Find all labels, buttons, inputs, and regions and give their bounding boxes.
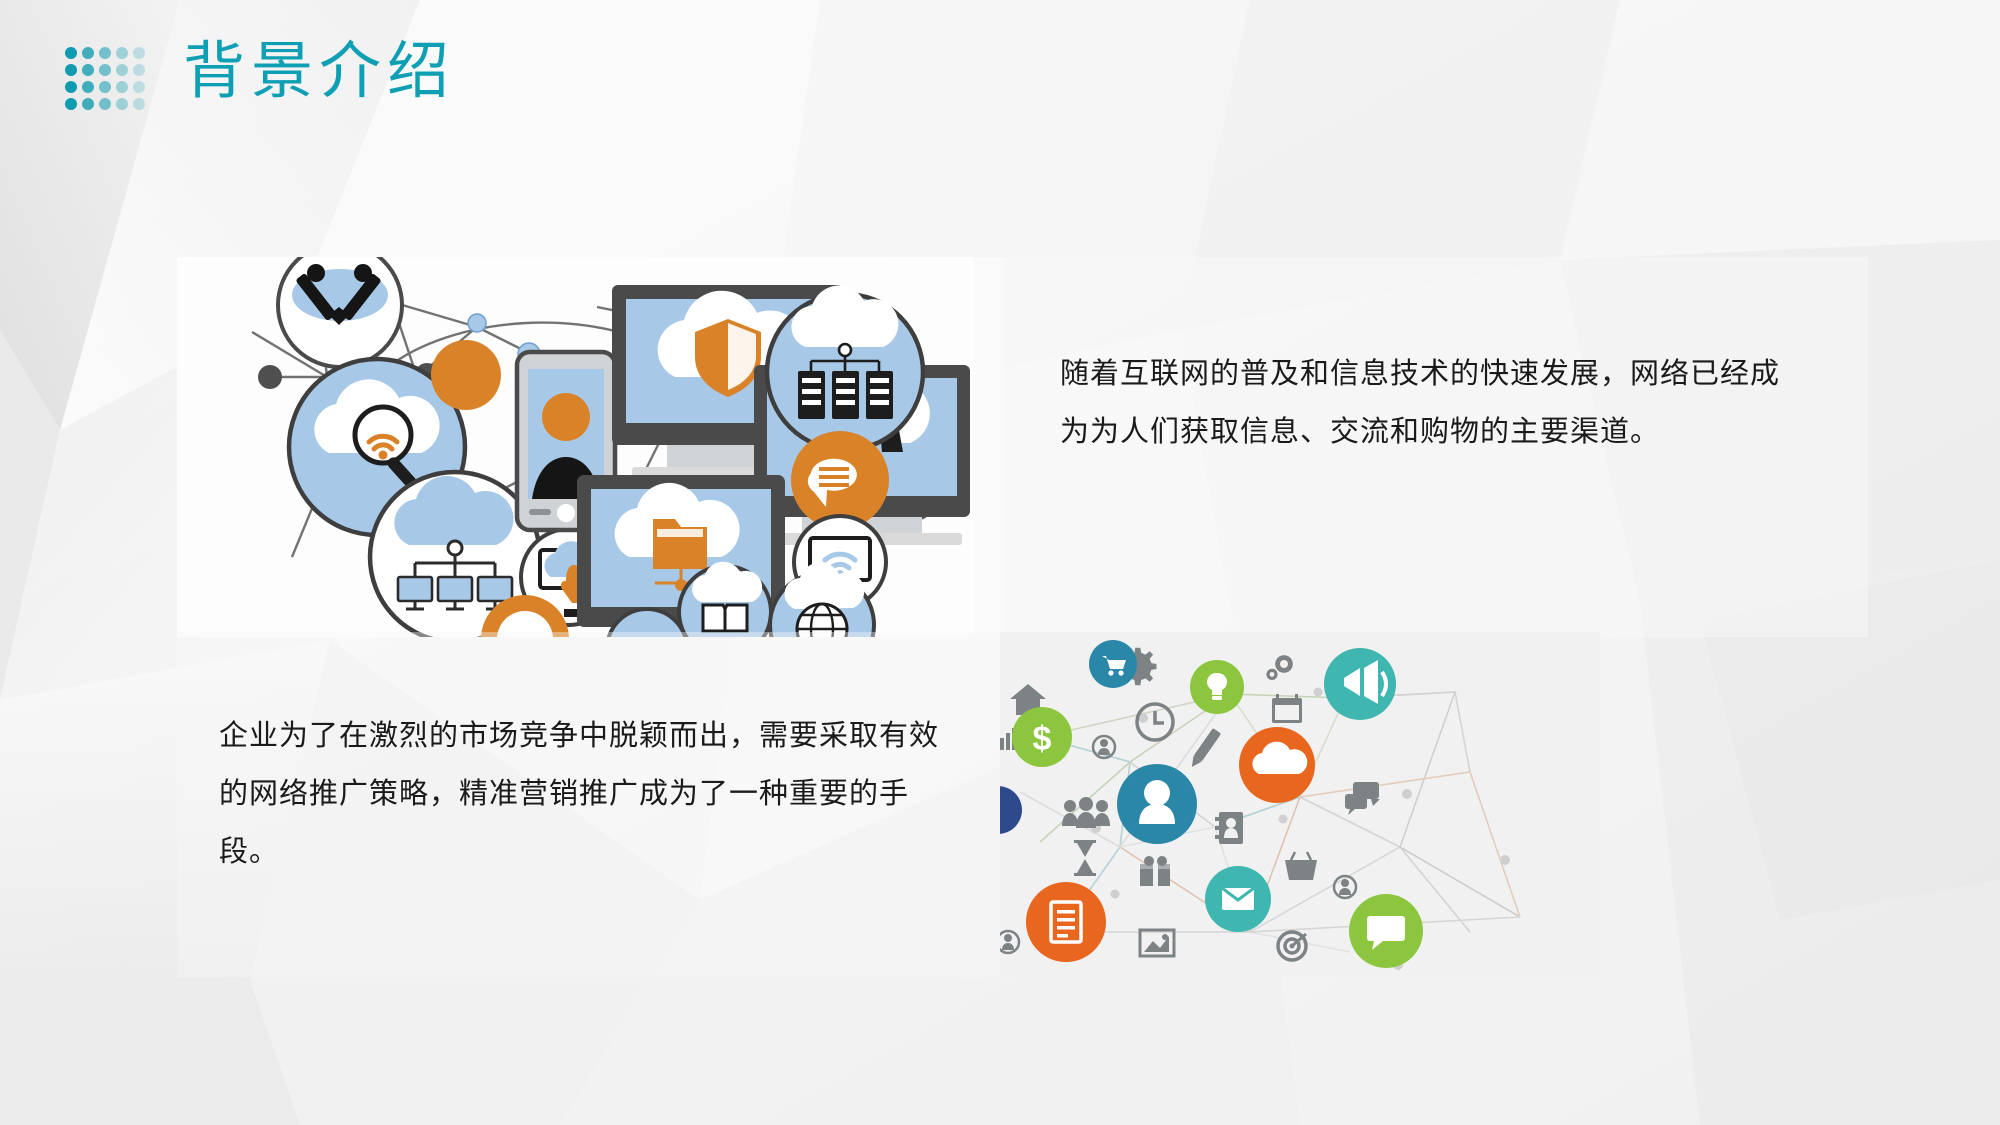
node-envelope — [1205, 866, 1271, 932]
marketing-network-image: $ — [1000, 632, 1600, 977]
page-title: 背景介绍 — [183, 38, 455, 107]
top-right-text-panel: 随着互联网的普及和信息技术的快速发展，网络已经成为为人们获取信息、交流和购物的主… — [975, 257, 1868, 637]
orange-node-icon — [431, 340, 501, 410]
dot-cell — [130, 95, 147, 112]
dot-cell — [62, 44, 79, 61]
dot-cell — [113, 78, 130, 95]
node-chat — [1349, 894, 1423, 968]
dot-cell — [130, 44, 147, 61]
dot-cell — [96, 95, 113, 112]
dot-cell — [79, 44, 96, 61]
node-shopping-cart — [1089, 640, 1137, 688]
dot-cell — [130, 78, 147, 95]
bottom-left-text-panel: 企业为了在激烈的市场竞争中脱颖而出，需要采取有效的网络推广策略，精准营销推广成为… — [177, 632, 1004, 977]
node-user — [1117, 764, 1197, 844]
dot-cell — [62, 78, 79, 95]
svg-text:$: $ — [1033, 720, 1052, 758]
calendar-icon — [1272, 694, 1302, 723]
dot-cell — [62, 95, 79, 112]
slide-root: 背景介绍 — [0, 0, 2000, 1125]
node-dollar: $ — [1012, 707, 1072, 767]
dot-cell — [96, 61, 113, 78]
wrench-cross-icon — [278, 257, 402, 367]
dot-cell — [79, 95, 96, 112]
dot-cell — [113, 61, 130, 78]
dot-cell — [96, 78, 113, 95]
node-cloud — [1239, 727, 1315, 803]
cloud-network-image — [177, 257, 1004, 637]
dot-cell — [79, 61, 96, 78]
paragraph-bottom-left: 企业为了在激烈的市场竞争中脱颖而出，需要采取有效的网络推广策略，精准营销推广成为… — [219, 707, 959, 881]
dot-cell — [113, 44, 130, 61]
node-megaphone — [1324, 648, 1396, 720]
dot-cell — [130, 61, 147, 78]
dot-cell — [113, 95, 130, 112]
dot-cell — [96, 44, 113, 61]
node-document — [1026, 882, 1106, 962]
paragraph-top-right: 随着互联网的普及和信息技术的快速发展，网络已经成为为人们获取信息、交流和购物的主… — [1060, 345, 1800, 461]
dot-grid-logo — [62, 44, 147, 112]
node-lightbulb — [1190, 660, 1244, 714]
contacts-icon — [1215, 812, 1243, 844]
dot-cell — [62, 61, 79, 78]
dot-cell — [79, 78, 96, 95]
